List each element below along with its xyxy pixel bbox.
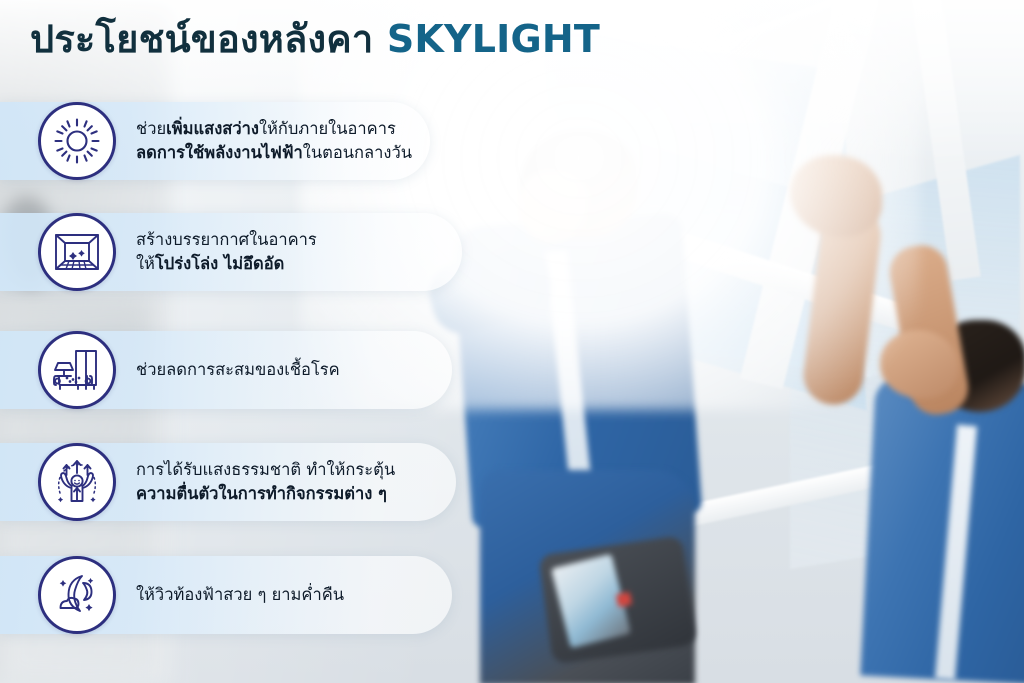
benefit-text-5: ให้วิวท้องฟ้าสวย ๆ ยามค่ำคืน xyxy=(136,583,344,607)
benefit-line-4b: ความตื่นตัวในการทำกิจกรรมต่าง ๆ xyxy=(136,482,395,506)
infographic-poster: ประโยชน์ของหลังคา SKYLIGHT xyxy=(0,0,1024,683)
benefit-row-5[interactable]: ให้วิวท้องฟ้าสวย ๆ ยามค่ำคืน xyxy=(0,556,344,634)
person-energized-icon xyxy=(38,443,116,521)
benefit-line-1b: ลดการใช้พลังงานไฟฟ้าในตอนกลางวัน xyxy=(136,141,412,165)
room-interior-icon xyxy=(38,213,116,291)
benefit-text-3: ช่วยลดการสะสมของเชื้อโรค xyxy=(136,358,340,382)
benefit-row-1[interactable]: ช่วยเพิ่มแสงสว่างให้กับภายในอาคาร ลดการใ… xyxy=(0,102,412,180)
benefit-row-3[interactable]: ช่วยลดการสะสมของเชื้อโรค xyxy=(0,331,340,409)
benefit-row-4[interactable]: การได้รับแสงธรรมชาติ ทำให้กระตุ้น ความตื… xyxy=(0,443,395,521)
sofa-icon xyxy=(38,331,116,409)
benefit-line-3a: ช่วยลดการสะสมของเชื้อโรค xyxy=(136,358,340,382)
page-title-thai: ประโยชน์ของหลังคา xyxy=(30,17,387,61)
benefit-text-1: ช่วยเพิ่มแสงสว่างให้กับภายในอาคาร ลดการใ… xyxy=(136,117,412,165)
moon-cloud-stars-icon xyxy=(38,556,116,634)
page-title-english: SKYLIGHT xyxy=(387,17,600,61)
benefit-line-2a: สร้างบรรยากาศในอาคาร xyxy=(136,228,317,252)
benefit-line-4a: การได้รับแสงธรรมชาติ ทำให้กระตุ้น xyxy=(136,458,395,482)
benefit-line-2b: ให้โปร่งโล่ง ไม่อึดอัด xyxy=(136,252,317,276)
benefit-line-5a: ให้วิวท้องฟ้าสวย ๆ ยามค่ำคืน xyxy=(136,583,344,607)
benefit-row-2[interactable]: สร้างบรรยากาศในอาคาร ให้โปร่งโล่ง ไม่อึด… xyxy=(0,213,317,291)
sun-icon xyxy=(38,102,116,180)
benefit-line-1a: ช่วยเพิ่มแสงสว่างให้กับภายในอาคาร xyxy=(136,117,412,141)
benefit-text-4: การได้รับแสงธรรมชาติ ทำให้กระตุ้น ความตื… xyxy=(136,458,395,506)
page-title: ประโยชน์ของหลังคา SKYLIGHT xyxy=(30,18,600,62)
benefit-text-2: สร้างบรรยากาศในอาคาร ให้โปร่งโล่ง ไม่อึด… xyxy=(136,228,317,276)
